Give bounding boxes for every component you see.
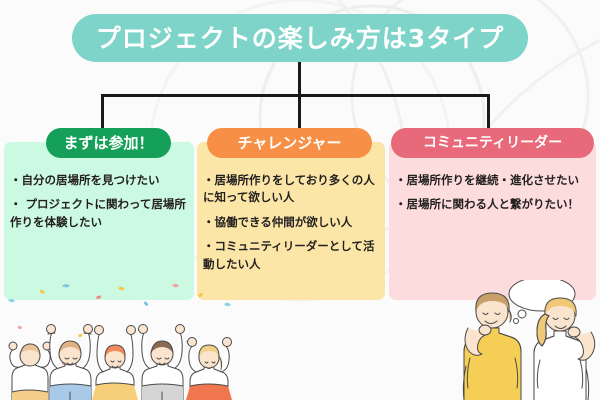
thinking-people-illustration	[452, 280, 600, 400]
card-leader-heading-pill: コミュニティリーダー	[391, 128, 594, 158]
card-participate[interactable]: まずは参加！ ・自分の居場所を見つけたい ・ プロジェクトに関わって居場所作りを…	[4, 142, 194, 300]
card-challenger-item: ・コミュニティリーダーとして活動したい人	[203, 238, 379, 273]
card-challenger-item: ・協働できる仲間が欲しい人	[203, 214, 379, 231]
diagram-title-banner: プロジェクトの楽しみ方は3タイプ	[72, 14, 528, 62]
card-participate-body: ・自分の居場所を見つけたい ・ プロジェクトに関わって居場所作りを体験したい	[10, 172, 188, 231]
card-participate-heading-label: まずは参加！	[63, 136, 153, 151]
card-leader-heading-label: コミュニティリーダー	[423, 136, 562, 150]
page-title: プロジェクトの楽しみ方は3タイプ	[96, 26, 504, 51]
card-challenger[interactable]: チャレンジャー ・居場所作りをしており多くの人に知って欲しい人 ・協働できる仲間…	[197, 142, 385, 300]
celebrating-people-illustration	[0, 282, 250, 400]
card-challenger-heading-pill: チャレンジャー	[207, 128, 372, 158]
card-challenger-heading-label: チャレンジャー	[237, 136, 341, 151]
card-leader-item: ・居場所作りを継続・進化させたい	[395, 172, 590, 189]
card-participate-heading-pill: まずは参加！	[46, 128, 171, 158]
card-leader[interactable]: コミュニティリーダー ・居場所作りを継続・進化させたい ・居場所に関わる人と繋が…	[389, 142, 596, 300]
card-participate-item: ・自分の居場所を見つけたい	[10, 172, 188, 189]
card-challenger-item: ・居場所作りをしており多くの人に知って欲しい人	[203, 172, 379, 207]
card-leader-item: ・居場所に関わる人と繋がりたい！	[395, 196, 590, 213]
card-participate-item: ・ プロジェクトに関わって居場所作りを体験したい	[10, 196, 188, 231]
card-leader-body: ・居場所作りを継続・進化させたい ・居場所に関わる人と繋がりたい！	[395, 172, 590, 214]
card-challenger-body: ・居場所作りをしており多くの人に知って欲しい人 ・協働できる仲間が欲しい人 ・コ…	[203, 172, 379, 273]
